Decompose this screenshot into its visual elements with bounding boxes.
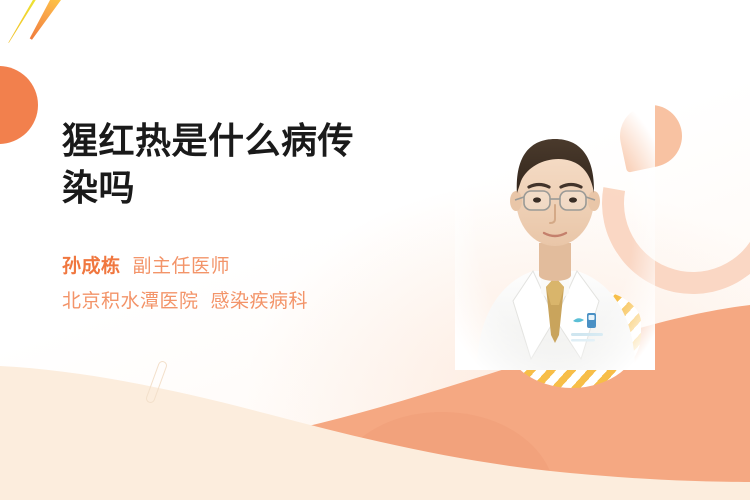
yellow-streak-icon <box>7 0 43 44</box>
title-line-1: 猩红热是什么病传 <box>62 120 354 161</box>
doctor-portrait <box>455 105 655 370</box>
doctor-hospital: 北京积水潭医院 <box>62 291 199 312</box>
doctor-credentials: 孙成栋副主任医师 北京积水潭医院感染疾病科 <box>62 252 442 317</box>
doctor-name-rank-line: 孙成栋副主任医师 <box>62 252 442 281</box>
doctor-department: 感染疾病科 <box>211 291 309 312</box>
video-cover-card: 猩红热是什么病传染吗 孙成栋副主任医师 北京积水潭医院感染疾病科 <box>0 0 750 500</box>
diagonal-streak-group <box>0 0 180 124</box>
doctor-hospital-department-line: 北京积水潭医院感染疾病科 <box>62 287 442 316</box>
text-content-block: 猩红热是什么病传染吗 孙成栋副主任医师 北京积水潭医院感染疾病科 <box>62 118 442 316</box>
orange-streak-icon <box>26 0 66 42</box>
doctor-rank: 副主任医师 <box>133 256 231 277</box>
doctor-name: 孙成栋 <box>62 256 121 277</box>
page-title: 猩红热是什么病传染吗 <box>62 118 442 212</box>
title-line-2: 染吗 <box>62 167 135 208</box>
